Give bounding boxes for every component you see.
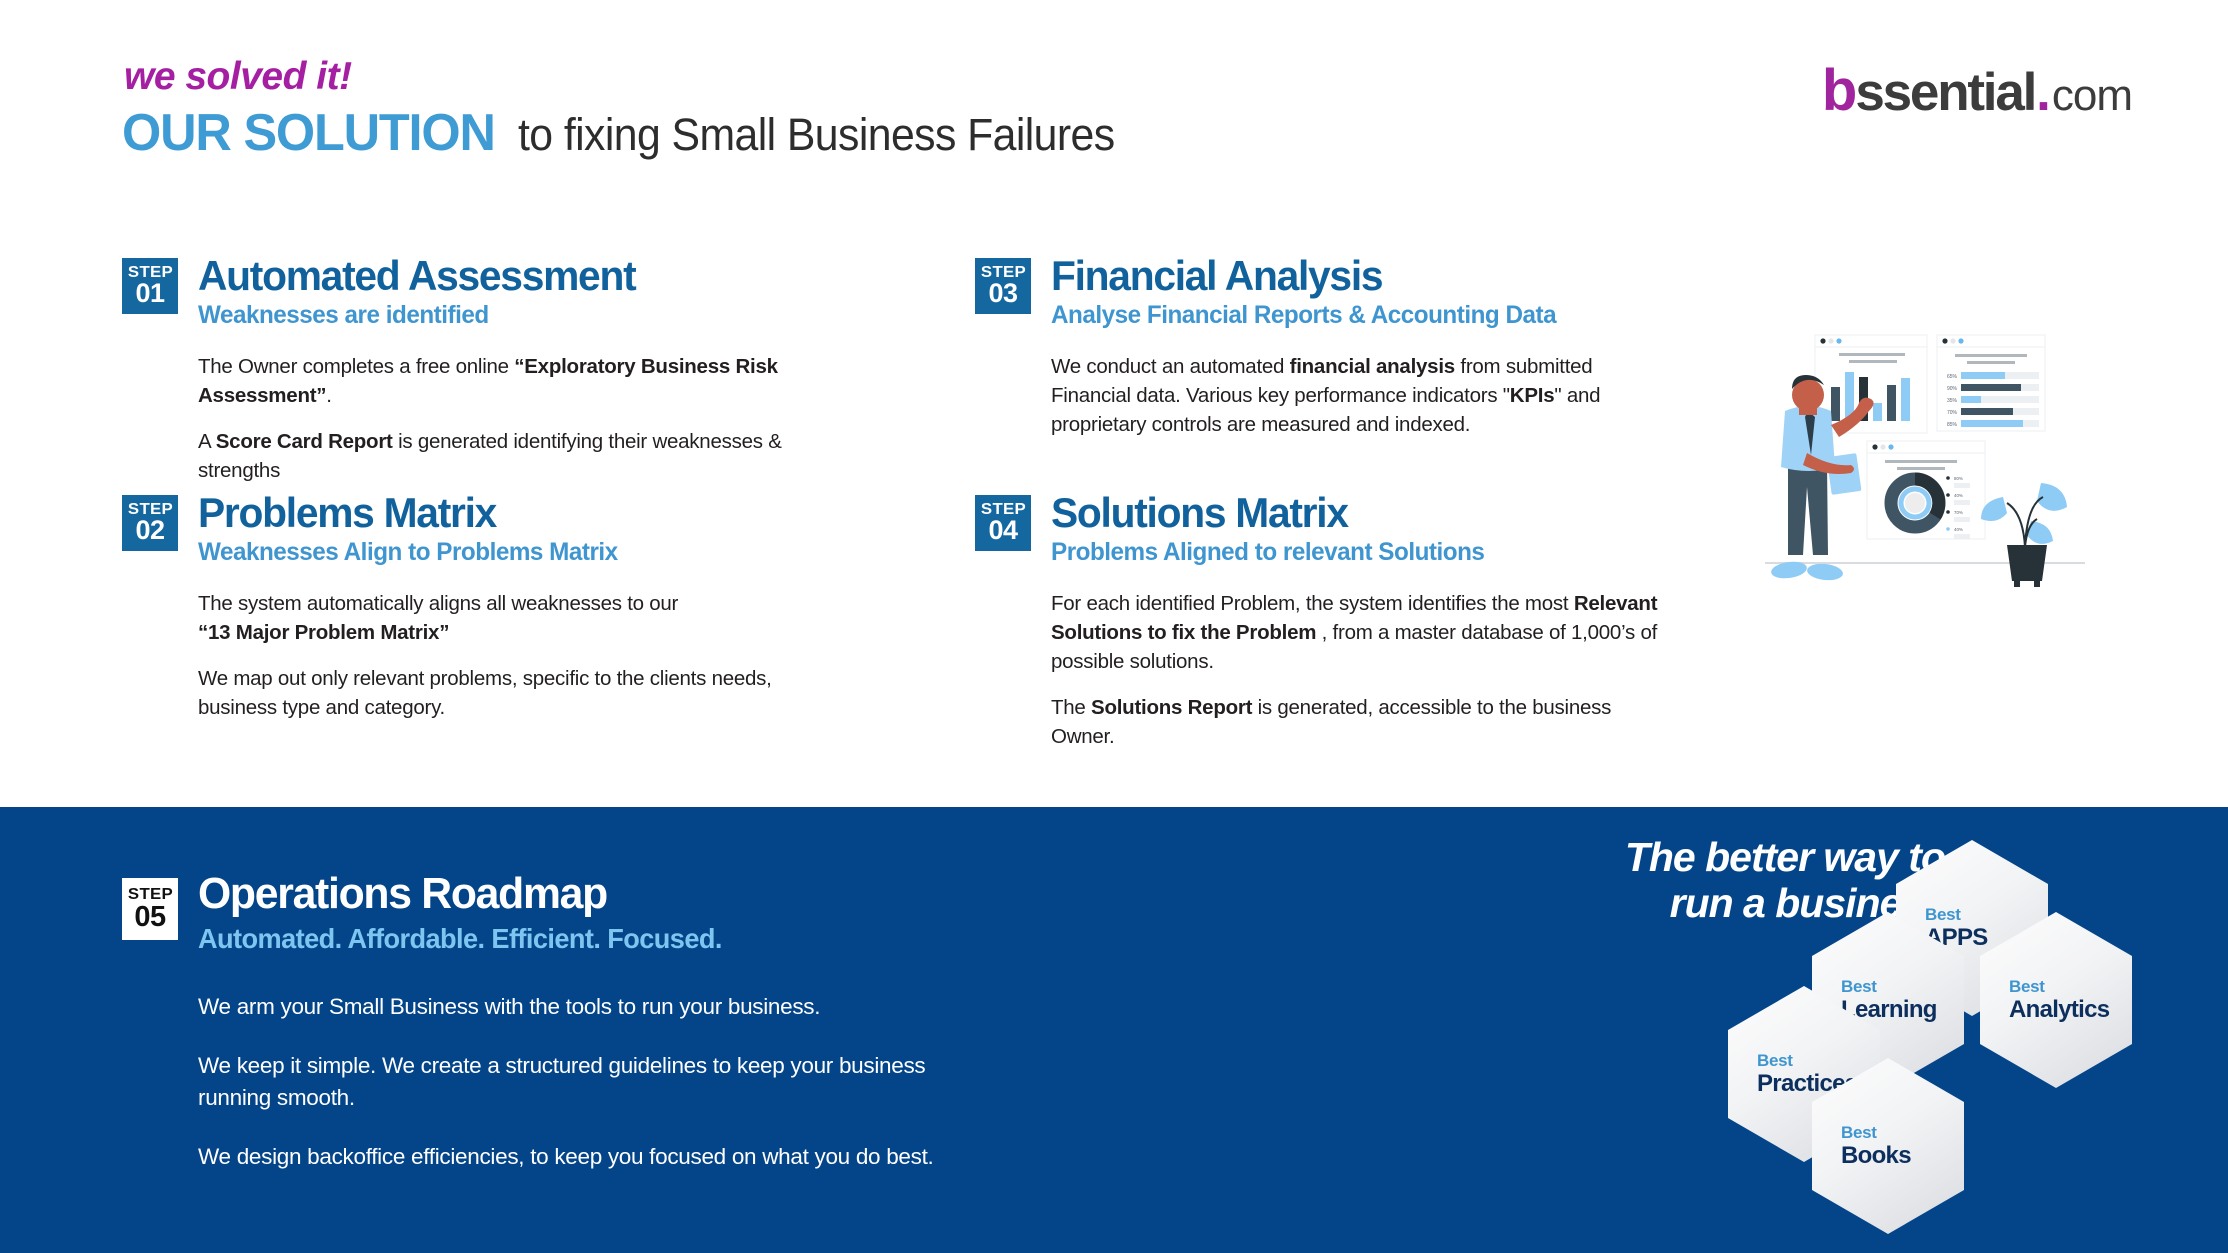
- kicker-text: we solved it!: [124, 55, 352, 99]
- dashboard-analyst-illustration: 65% 90% 35% 70% 85% 80%: [1755, 315, 2095, 615]
- infographic-page: we solved it! OUR SOLUTION to fixing Sma…: [0, 0, 2228, 1253]
- step-paragraph: The Solutions Report is generated, acces…: [1051, 693, 1675, 751]
- hexagon-label-main: Analytics: [2009, 997, 2109, 1022]
- step-paragraph: We design backoffice efficiencies, to ke…: [198, 1141, 998, 1174]
- svg-text:70%: 70%: [1954, 510, 1963, 515]
- headline-remainder: to fixing Small Business Failures: [518, 109, 1115, 161]
- hexagon-label-top: Best: [2009, 978, 2045, 995]
- step-badge-02: STEP 02: [122, 495, 178, 551]
- step-badge-number: 03: [988, 280, 1017, 307]
- step-title-group-05: Operations Roadmap Automated. Affordable…: [198, 872, 738, 955]
- step-body-01: The Owner completes a free online “Explo…: [198, 352, 842, 485]
- step-subtitle-02: Weaknesses Align to Problems Matrix: [198, 538, 618, 567]
- hexagon-label-top: Best: [1841, 978, 1877, 995]
- step-badge-03: STEP 03: [975, 258, 1031, 314]
- svg-text:40%: 40%: [1954, 527, 1963, 532]
- svg-text:90%: 90%: [1947, 386, 1958, 392]
- svg-text:40%: 40%: [1954, 493, 1963, 498]
- progress-card: 65% 90% 35% 70% 85%: [1937, 335, 2045, 431]
- step-paragraph: We arm your Small Business with the tool…: [198, 991, 998, 1024]
- logo-mark-icon: b: [1822, 62, 1855, 120]
- step-title-group-03: Financial Analysis Analyse Financial Rep…: [1051, 255, 1572, 330]
- headline-emphasis: OUR SOLUTION: [122, 103, 495, 163]
- step-header-04: STEP 04 Solutions Matrix Problems Aligne…: [975, 492, 1675, 567]
- step-block-02: STEP 02 Problems Matrix Weaknesses Align…: [122, 492, 842, 722]
- step-body-04: For each identified Problem, the system …: [1051, 589, 1675, 752]
- step-badge-number: 01: [135, 280, 164, 307]
- bar-chart-card: [1815, 335, 1927, 433]
- step-body-03: We conduct an automated financial analys…: [1051, 352, 1675, 439]
- step-title-04: Solutions Matrix: [1051, 492, 1484, 535]
- step-title-05: Operations Roadmap: [198, 872, 722, 917]
- step-subtitle-03: Analyse Financial Reports & Accounting D…: [1051, 301, 1556, 330]
- step-block-01: STEP 01 Automated Assessment Weaknesses …: [122, 255, 842, 485]
- svg-text:85%: 85%: [1947, 422, 1958, 428]
- hexagon-label-top: Best: [1841, 1124, 1877, 1141]
- step-paragraph: We conduct an automated financial analys…: [1051, 352, 1675, 439]
- step-header-05: STEP 05 Operations Roadmap Automated. Af…: [122, 872, 998, 955]
- step-header-02: STEP 02 Problems Matrix Weaknesses Align…: [122, 492, 842, 567]
- svg-text:65%: 65%: [1947, 374, 1958, 380]
- step-badge-04: STEP 04: [975, 495, 1031, 551]
- step-title-03: Financial Analysis: [1051, 255, 1556, 298]
- step-title-group-04: Solutions Matrix Problems Aligned to rel…: [1051, 492, 1498, 567]
- step-body-05: We arm your Small Business with the tool…: [198, 991, 998, 1174]
- step-paragraph: For each identified Problem, the system …: [1051, 589, 1675, 676]
- step-badge-word: STEP: [980, 502, 1025, 518]
- step-block-04: STEP 04 Solutions Matrix Problems Aligne…: [975, 492, 1675, 751]
- page-header: we solved it! OUR SOLUTION to fixing Sma…: [0, 0, 2228, 200]
- step-block-03: STEP 03 Financial Analysis Analyse Finan…: [975, 255, 1675, 439]
- step-badge-word: STEP: [127, 265, 172, 281]
- potted-plant: [1981, 483, 2067, 587]
- step-subtitle-04: Problems Aligned to relevant Solutions: [1051, 538, 1484, 567]
- hexagon-label-top: Best: [1925, 906, 1961, 923]
- page-title: OUR SOLUTION to fixing Small Business Fa…: [122, 103, 1146, 163]
- step-paragraph: We keep it simple. We create a structure…: [198, 1050, 998, 1115]
- step-subtitle-05: Automated. Affordable. Efficient. Focuse…: [198, 923, 722, 955]
- step-paragraph: The Owner completes a free online “Explo…: [198, 352, 842, 410]
- step-header-01: STEP 01 Automated Assessment Weaknesses …: [122, 255, 842, 330]
- step-badge-number: 04: [988, 517, 1017, 544]
- hexagon-label-main: Books: [1841, 1143, 1911, 1168]
- step-header-03: STEP 03 Financial Analysis Analyse Finan…: [975, 255, 1675, 330]
- svg-text:80%: 80%: [1954, 476, 1963, 481]
- step-title-02: Problems Matrix: [198, 492, 618, 535]
- step-body-02: The system automatically aligns all weak…: [198, 589, 842, 722]
- step-paragraph: The system automatically aligns all weak…: [198, 589, 842, 647]
- step-paragraph: A Score Card Report is generated identif…: [198, 427, 842, 485]
- step-subtitle-01: Weaknesses are identified: [198, 301, 635, 330]
- step-badge-01: STEP 01: [122, 258, 178, 314]
- step-badge-word: STEP: [127, 502, 172, 518]
- hexagon-label-top: Best: [1757, 1052, 1793, 1069]
- step-badge-word: STEP: [980, 265, 1025, 281]
- svg-text:35%: 35%: [1947, 398, 1958, 404]
- svg-text:70%: 70%: [1947, 410, 1958, 416]
- donut-card: 80% 40% 70% 40%: [1867, 441, 1985, 539]
- step-badge-word: STEP: [127, 887, 172, 903]
- logo-dot-icon: .: [2036, 66, 2051, 119]
- step-paragraph: We map out only relevant problems, speci…: [198, 664, 842, 722]
- hexagon-cluster: Best APPS Best Learning Best Analytics B…: [1680, 840, 2160, 1240]
- logo-tld: com: [2052, 74, 2132, 118]
- step-title-01: Automated Assessment: [198, 255, 635, 298]
- step-title-group-01: Automated Assessment Weaknesses are iden…: [198, 255, 649, 330]
- step-block-05: STEP 05 Operations Roadmap Automated. Af…: [122, 872, 998, 1173]
- step-title-group-02: Problems Matrix Weaknesses Align to Prob…: [198, 492, 631, 567]
- step-badge-05: STEP 05: [122, 878, 178, 940]
- logo-wordmark: ssential: [1855, 66, 2035, 119]
- step-badge-number: 05: [134, 903, 165, 932]
- step-badge-number: 02: [135, 517, 164, 544]
- brand-logo[interactable]: b ssential . com: [1822, 62, 2132, 120]
